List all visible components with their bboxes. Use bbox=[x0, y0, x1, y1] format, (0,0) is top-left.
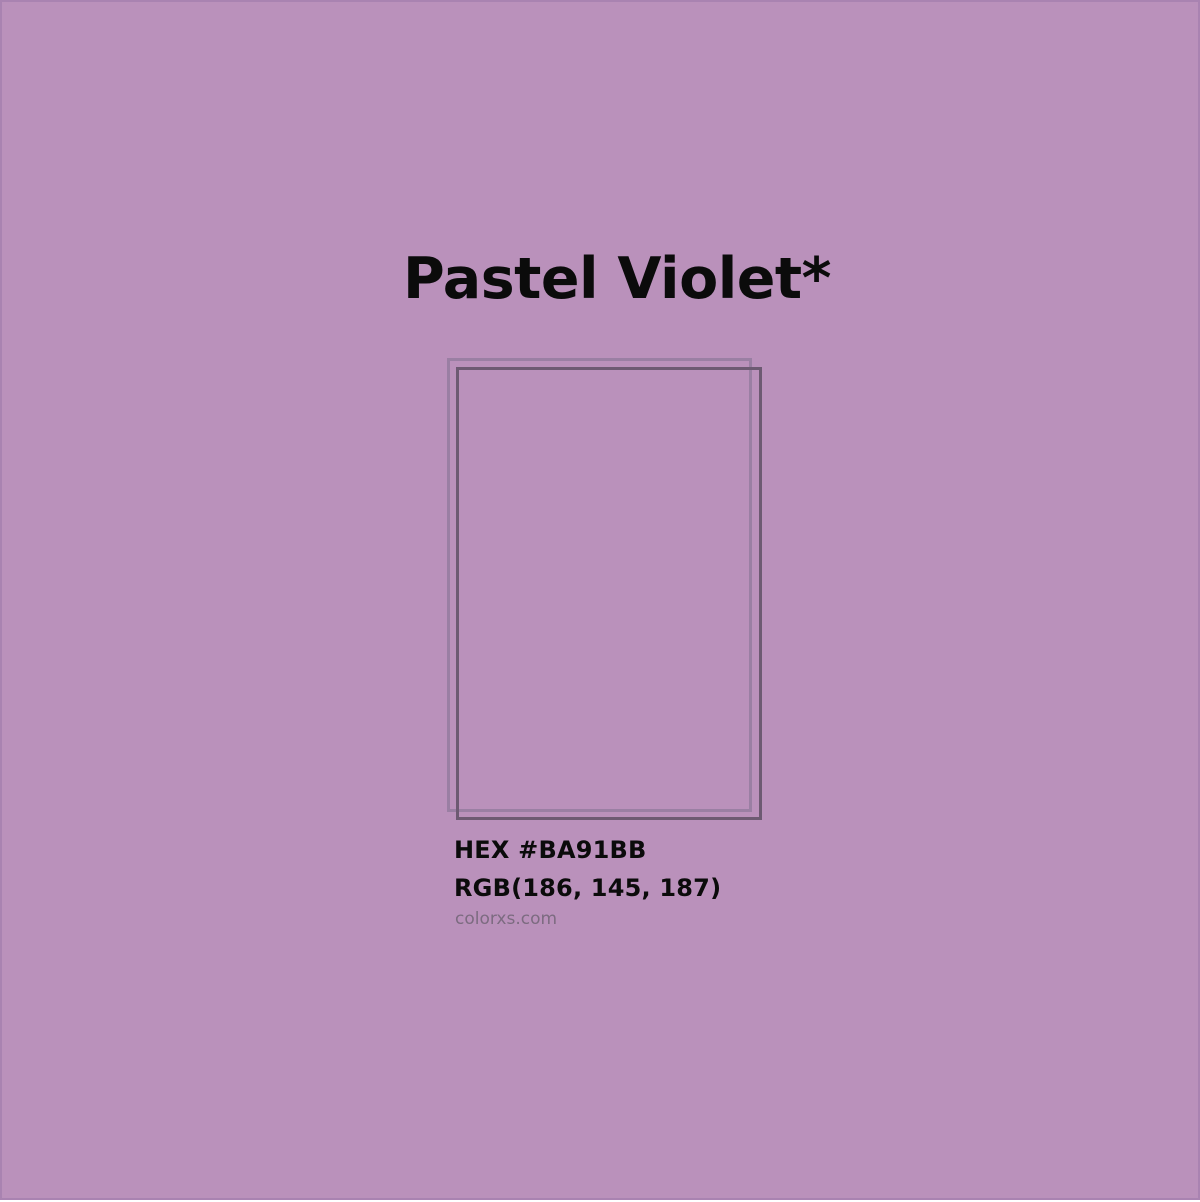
site-watermark: colorxs.com bbox=[455, 909, 557, 929]
hex-value-label: HEX #BA91BB bbox=[454, 836, 647, 864]
color-swatch bbox=[2, 2, 1200, 1202]
swatch-inner-frame bbox=[456, 367, 762, 820]
rgb-value-label: RGB(186, 145, 187) bbox=[454, 874, 721, 902]
page-title: Pastel Violet* bbox=[403, 248, 831, 311]
color-detail-page: Pastel Violet* HEX #BA91BB RGB(186, 145,… bbox=[0, 0, 1200, 1200]
swatch-outer-frame bbox=[447, 358, 752, 812]
